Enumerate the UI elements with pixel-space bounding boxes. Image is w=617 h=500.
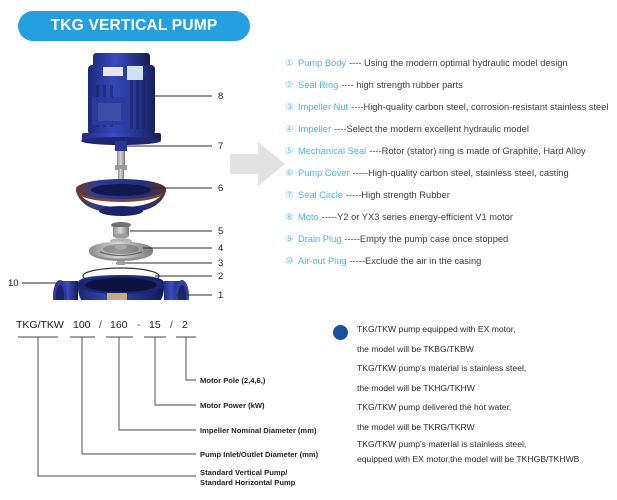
code-sep-3: / bbox=[170, 319, 173, 331]
legend-item-4: ④ Impeller ----Select the modern excelle… bbox=[285, 124, 617, 146]
note-line: the model will be TKBG/TKBW bbox=[333, 340, 617, 360]
legend-item-3: ③ Impeller Nut ----High-quality carbon s… bbox=[285, 102, 617, 124]
legend-part-desc: ----Select the modern excellent hydrauli… bbox=[334, 124, 529, 134]
note-line: the model will be TKHG/TKHW bbox=[333, 379, 617, 399]
callout-4: 4 bbox=[218, 243, 223, 254]
model-code-designation: TKG/TKW 100 / 160 - 15 / 2 bbox=[0, 312, 330, 497]
note-line: the model will be TKRG/TKRW bbox=[333, 418, 617, 438]
note-line: equipped with EX motor,the model will be… bbox=[333, 452, 617, 467]
shaft-part bbox=[115, 141, 127, 183]
code-power: 15 bbox=[149, 319, 161, 331]
callout-5: 5 bbox=[218, 226, 223, 237]
legend-part-desc: -----High-quality carbon steel, stainles… bbox=[353, 168, 569, 178]
legend-part-desc: ---- Using the modern optimal hydraulic … bbox=[349, 58, 568, 68]
callout-6: 6 bbox=[218, 183, 223, 194]
legend-number-icon: ③ bbox=[285, 103, 298, 113]
legend-part-name: Moto bbox=[298, 212, 319, 222]
variant-notes: TKG/TKW pump equipped with EX motor, the… bbox=[333, 320, 617, 467]
code-sep-1: / bbox=[99, 319, 102, 331]
legend-item-2: ② Seal Ring ---- high strength rubber pa… bbox=[285, 80, 617, 102]
legend-number-icon: ⑤ bbox=[285, 147, 298, 157]
code-pole: 2 bbox=[182, 319, 188, 331]
legend-part-desc: -----High strength Rubber bbox=[346, 190, 450, 200]
label-standard-line1: Standard Vertical Pump/ bbox=[200, 468, 288, 477]
code-sep-2: - bbox=[137, 319, 141, 331]
right-arrow-icon bbox=[228, 138, 288, 190]
legend-part-name: Seal Ring bbox=[298, 80, 338, 90]
legend-part-desc: ---- high strength rubber parts bbox=[341, 80, 462, 90]
label-motor-pole: Motor Pole (2,4,6,) bbox=[200, 376, 266, 385]
legend-number-icon: ⑦ bbox=[285, 191, 298, 201]
legend-item-7: ⑦ Seal Circle -----High strength Rubber bbox=[285, 190, 617, 212]
code-impeller: 160 bbox=[110, 319, 128, 331]
legend-part-name: Drain Plug bbox=[298, 234, 341, 244]
legend-number-icon: ⑩ bbox=[285, 257, 298, 267]
note-line: TKG/TKW pump's material is stainless ste… bbox=[333, 437, 617, 452]
legend-number-icon: ① bbox=[285, 59, 298, 69]
legend-number-icon: ⑧ bbox=[285, 213, 298, 223]
impeller-nut-part bbox=[116, 261, 126, 265]
legend-part-name: Impeller bbox=[298, 124, 331, 134]
legend-part-name: Seal Circle bbox=[298, 190, 343, 200]
legend-part-name: Air-out Plug bbox=[298, 256, 347, 266]
legend-part-desc: -----Y2 or YX3 series energy-efficient V… bbox=[322, 212, 513, 222]
legend-item-10: ⑩ Air-out Plug -----Exclude the air in t… bbox=[285, 256, 617, 278]
note-line: TKG/TKW pump's material is stainless ste… bbox=[333, 359, 617, 379]
legend-item-5: ⑤ Mechanical Seal ----Rotor (stator) rin… bbox=[285, 146, 617, 168]
callout-8: 8 bbox=[218, 91, 223, 102]
callout-7: 7 bbox=[218, 141, 223, 152]
legend-item-8: ⑧ Moto -----Y2 or YX3 series energy-effi… bbox=[285, 212, 617, 234]
note-line: TKG/TKW pump delivered the hot water, bbox=[333, 398, 617, 418]
parts-legend: ① Pump Body ---- Using the modern optima… bbox=[285, 58, 617, 278]
legend-number-icon: ⑥ bbox=[285, 169, 298, 179]
legend-item-1: ① Pump Body ---- Using the modern optima… bbox=[285, 58, 617, 80]
legend-number-icon: ② bbox=[285, 81, 298, 91]
legend-number-icon: ⑨ bbox=[285, 235, 298, 245]
label-impeller-dia: Impeller Nominal Diameter (mm) bbox=[200, 426, 317, 435]
legend-part-name: Pump Body bbox=[298, 58, 346, 68]
page-title: TKG VERTICAL PUMP bbox=[51, 17, 218, 35]
pump-body-part bbox=[53, 275, 189, 300]
legend-item-6: ⑥ Pump Cover -----High-quality carbon st… bbox=[285, 168, 617, 190]
page-title-banner: TKG VERTICAL PUMP bbox=[18, 11, 250, 41]
callout-2: 2 bbox=[218, 271, 223, 282]
legend-part-desc: -----Exclude the air in the casing bbox=[350, 256, 482, 266]
code-series: TKG/TKW bbox=[16, 319, 64, 331]
label-inlet-dia: Pump Inlet/Outlet Diameter (mm) bbox=[200, 450, 319, 459]
legend-part-desc: ----Rotor (stator) ring is made of Graph… bbox=[369, 146, 585, 156]
label-motor-power: Motor Power (kW) bbox=[200, 401, 265, 410]
callout-1: 1 bbox=[218, 290, 223, 300]
pump-cover-part bbox=[76, 179, 166, 216]
legend-item-9: ⑨ Drain Plug -----Empty the pump case on… bbox=[285, 234, 617, 256]
note-line: TKG/TKW pump equipped with EX motor, bbox=[333, 320, 617, 340]
impeller-part bbox=[89, 242, 153, 262]
legend-part-desc: -----Empty the pump case once stopped bbox=[344, 234, 508, 244]
mechanical-seal-part bbox=[110, 222, 132, 244]
legend-part-name: Mechanical Seal bbox=[298, 146, 366, 156]
legend-part-name: Pump Cover bbox=[298, 168, 350, 178]
legend-part-desc: ----High-quality carbon steel, corrosion… bbox=[351, 102, 608, 112]
callout-10: 10 bbox=[8, 278, 19, 289]
code-inlet: 100 bbox=[73, 319, 91, 331]
callout-3: 3 bbox=[218, 258, 223, 269]
bullet-dot-icon bbox=[333, 325, 348, 340]
legend-number-icon: ④ bbox=[285, 125, 298, 135]
legend-part-name: Impeller Nut bbox=[298, 102, 348, 112]
label-standard-line2: Standard Horizontal Pump bbox=[200, 478, 296, 487]
motor-part bbox=[81, 53, 161, 145]
